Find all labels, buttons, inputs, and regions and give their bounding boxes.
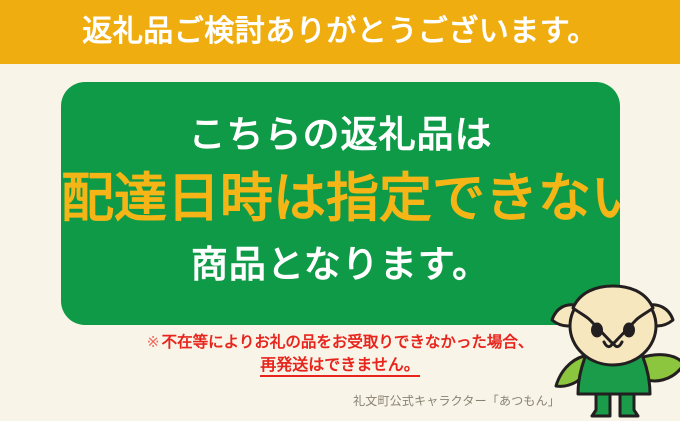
mascot-caption: 礼文町公式キャラクター「あつもん」 bbox=[330, 392, 560, 409]
left-eye-icon bbox=[591, 323, 603, 338]
promo-banner: 返礼品ご検討ありがとうございます。 こちらの返礼品は 配達日時は指定できない 商… bbox=[0, 0, 680, 421]
notice-line-1-text: 不在等によりお礼の品をお受取りできなかった場合、 bbox=[162, 334, 534, 351]
message-panel: こちらの返礼品は 配達日時は指定できない 商品となります。 bbox=[61, 82, 620, 325]
message-line-1: こちらの返礼品は bbox=[61, 116, 620, 153]
reference-mark-icon: ※ bbox=[147, 334, 160, 351]
right-eye-icon bbox=[623, 323, 635, 338]
header-title: 返礼品ご検討ありがとうございます。 bbox=[82, 17, 598, 47]
mascot-character-atsumon bbox=[540, 268, 680, 421]
header-bar: 返礼品ご検討ありがとうございます。 bbox=[0, 0, 680, 64]
notice-line-2-text: 再発送はできません。 bbox=[260, 357, 420, 377]
message-line-3: 商品となります。 bbox=[61, 246, 620, 283]
message-line-2-emphasis: 配達日時は指定できない bbox=[61, 172, 620, 225]
